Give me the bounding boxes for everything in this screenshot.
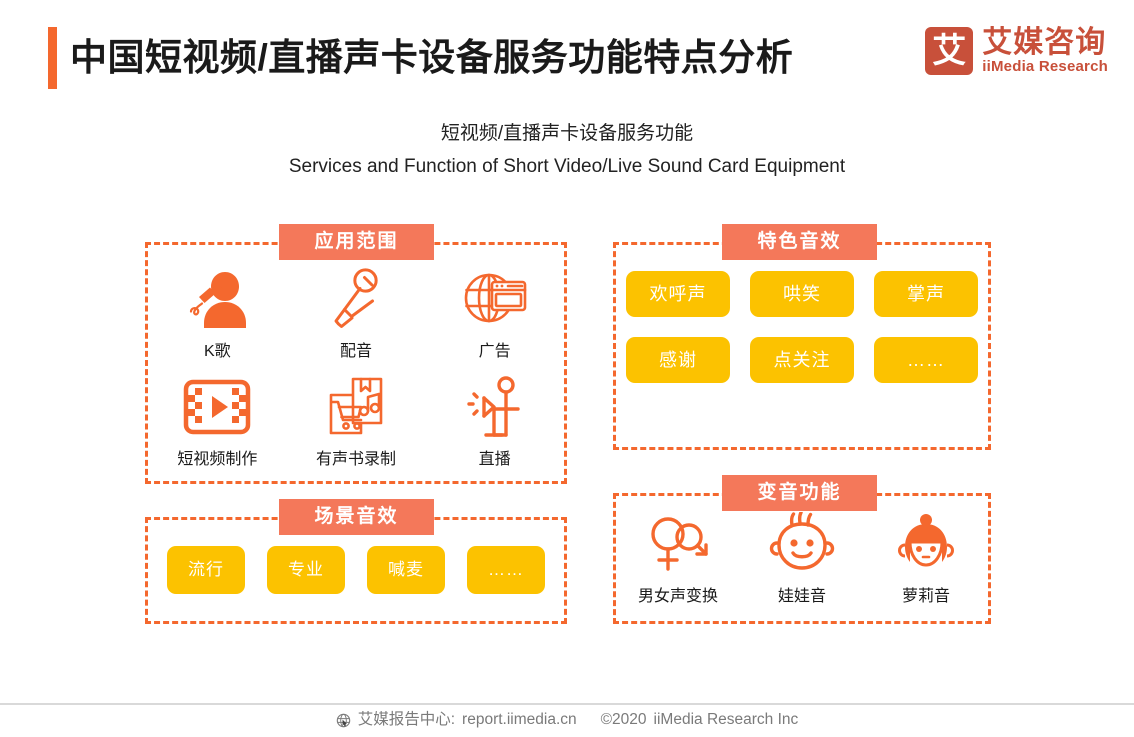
scope-label-dubbing: 配音 (340, 337, 372, 361)
panel-scene-sound-effects: 场景音效 流行 专业 喊麦 …… (145, 517, 567, 624)
panel-title-voice-change: 变音功能 (722, 475, 877, 511)
film-play-icon (181, 371, 253, 443)
scope-item-advertising[interactable]: 广告 (425, 263, 564, 361)
header: 中国短视频/直播声卡设备服务功能特点分析 艾 艾媒咨询 iiMedia Rese… (0, 0, 1134, 110)
page-title: 中国短视频/直播声卡设备服务功能特点分析 (70, 28, 793, 88)
chip-rap[interactable]: 喊麦 (367, 546, 445, 594)
audiobook-cart-icon (320, 371, 392, 443)
live-streamer-icon (459, 371, 531, 443)
title-accent-bar (48, 27, 57, 89)
scope-label-livestream: 直播 (479, 445, 511, 469)
subtitle-cn: 短视频/直播声卡设备服务功能 (0, 120, 1134, 148)
chip-follow[interactable]: 点关注 (750, 337, 854, 383)
panel-special-sound-effects: 特色音效 欢呼声 哄笑 掌声 感谢 点关注 …… (613, 242, 991, 450)
subtitle-en: Services and Function of Short Video/Liv… (0, 152, 1134, 182)
scope-label-audiobook: 有声书录制 (316, 445, 396, 469)
chip-scene-more[interactable]: …… (467, 546, 545, 594)
voice-item-loli[interactable]: 萝莉音 (864, 508, 988, 606)
special-effects-chip-grid: 欢呼声 哄笑 掌声 感谢 点关注 …… (616, 271, 988, 383)
panel-title-special-sound-effects: 特色音效 (722, 224, 877, 260)
globe-cursor-icon (336, 713, 351, 728)
chip-cheer[interactable]: 欢呼声 (626, 271, 730, 317)
chip-pop[interactable]: 流行 (167, 546, 245, 594)
logo-mark-icon: 艾 (925, 27, 973, 75)
footer-url[interactable]: report.iimedia.cn (462, 707, 577, 733)
chip-applause[interactable]: 掌声 (874, 271, 978, 317)
girl-face-icon (890, 508, 962, 580)
voice-label-gender-switch: 男女声变换 (638, 582, 718, 606)
chip-more[interactable]: …… (874, 337, 978, 383)
scope-label-short-video: 短视频制作 (177, 445, 257, 469)
scope-item-audiobook[interactable]: 有声书录制 (287, 371, 426, 469)
subtitle-block: 短视频/直播声卡设备服务功能 Services and Function of … (0, 120, 1134, 182)
scope-item-short-video[interactable]: 短视频制作 (148, 371, 287, 469)
logo-name-cn: 艾媒咨询 (982, 27, 1108, 58)
footer-report-center: 艾媒报告中心: (358, 707, 455, 733)
voice-label-loli: 萝莉音 (902, 582, 950, 606)
baby-face-icon (766, 508, 838, 580)
voice-label-baby: 娃娃音 (778, 582, 826, 606)
karaoke-singer-icon (181, 263, 253, 335)
globe-browser-ad-icon (459, 263, 531, 335)
application-scope-grid: K歌 配音 (148, 263, 564, 469)
chip-thanks[interactable]: 感谢 (626, 337, 730, 383)
footer-divider (0, 703, 1134, 705)
gender-symbols-icon (642, 508, 714, 580)
logo-wordmark: 艾媒咨询 iiMedia Research (982, 27, 1108, 76)
scope-item-dubbing[interactable]: 配音 (287, 263, 426, 361)
microphone-icon (320, 263, 392, 335)
brand-logo: 艾 艾媒咨询 iiMedia Research (925, 24, 1108, 78)
panel-application-scope: 应用范围 K歌 (145, 242, 567, 484)
scope-label-advertising: 广告 (479, 337, 511, 361)
footer-copyright: ©2020 (601, 707, 647, 733)
slide-canvas: 中国短视频/直播声卡设备服务功能特点分析 艾 艾媒咨询 iiMedia Rese… (0, 0, 1134, 737)
chip-pro[interactable]: 专业 (267, 546, 345, 594)
logo-name-en: iiMedia Research (982, 58, 1108, 76)
voice-item-baby[interactable]: 娃娃音 (740, 508, 864, 606)
voice-item-gender-switch[interactable]: 男女声变换 (616, 508, 740, 606)
scope-item-karaoke[interactable]: K歌 (148, 263, 287, 361)
scope-item-livestream[interactable]: 直播 (425, 371, 564, 469)
scope-label-karaoke: K歌 (204, 337, 231, 361)
panel-title-scene-sound-effects: 场景音效 (279, 499, 434, 535)
chip-laughter[interactable]: 哄笑 (750, 271, 854, 317)
voice-change-grid: 男女声变换 娃娃音 (616, 508, 988, 606)
footer: 艾媒报告中心: report.iimedia.cn ©2020 iiMedia … (0, 707, 1134, 733)
scene-effects-chip-row: 流行 专业 喊麦 …… (148, 546, 564, 594)
footer-company: iiMedia Research Inc (654, 707, 799, 733)
panel-title-application-scope: 应用范围 (279, 224, 434, 260)
panel-voice-change: 变音功能 男女声变换 (613, 493, 991, 624)
